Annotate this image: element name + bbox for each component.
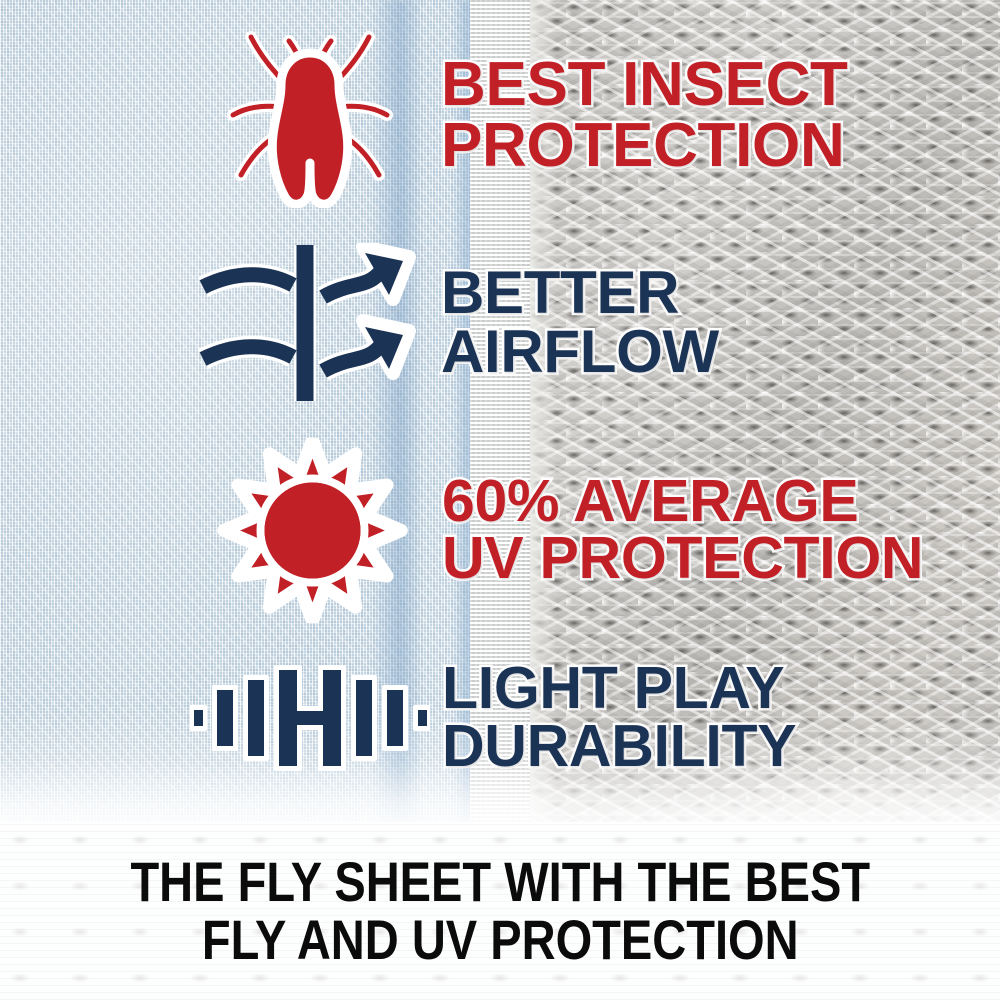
- airflow-icon: [195, 243, 425, 403]
- feature-row-uv-protection: 60% AVERAGE UV PROTECTION: [215, 435, 985, 625]
- dumbbell-icon: [190, 663, 430, 773]
- banner-headline-line-1: THE FLY SHEET WITH THE BEST: [130, 853, 870, 911]
- infographic-canvas: BEST INSECT PROTECTION: [0, 0, 1000, 1000]
- feature-label-durability: LIGHT PLAY DURABILITY: [442, 660, 796, 774]
- feature-label-insect-protection: BEST INSECT PROTECTION: [441, 55, 848, 175]
- feature-row-durability: LIGHT PLAY DURABILITY: [190, 645, 950, 790]
- feature-label-uv-protection: 60% AVERAGE UV PROTECTION: [442, 473, 923, 587]
- feature-label-airflow: BETTER AIRFLOW: [441, 264, 719, 380]
- feature-row-airflow: BETTER AIRFLOW: [195, 240, 955, 405]
- fly-icon: [225, 23, 395, 208]
- bottom-banner: THE FLY SHEET WITH THE BEST FLY AND UV P…: [0, 822, 1000, 1000]
- feature-row-insect-protection: BEST INSECT PROTECTION: [225, 18, 985, 213]
- sun-icon: [215, 438, 410, 623]
- banner-headline-line-2: FLY AND UV PROTECTION: [202, 911, 799, 969]
